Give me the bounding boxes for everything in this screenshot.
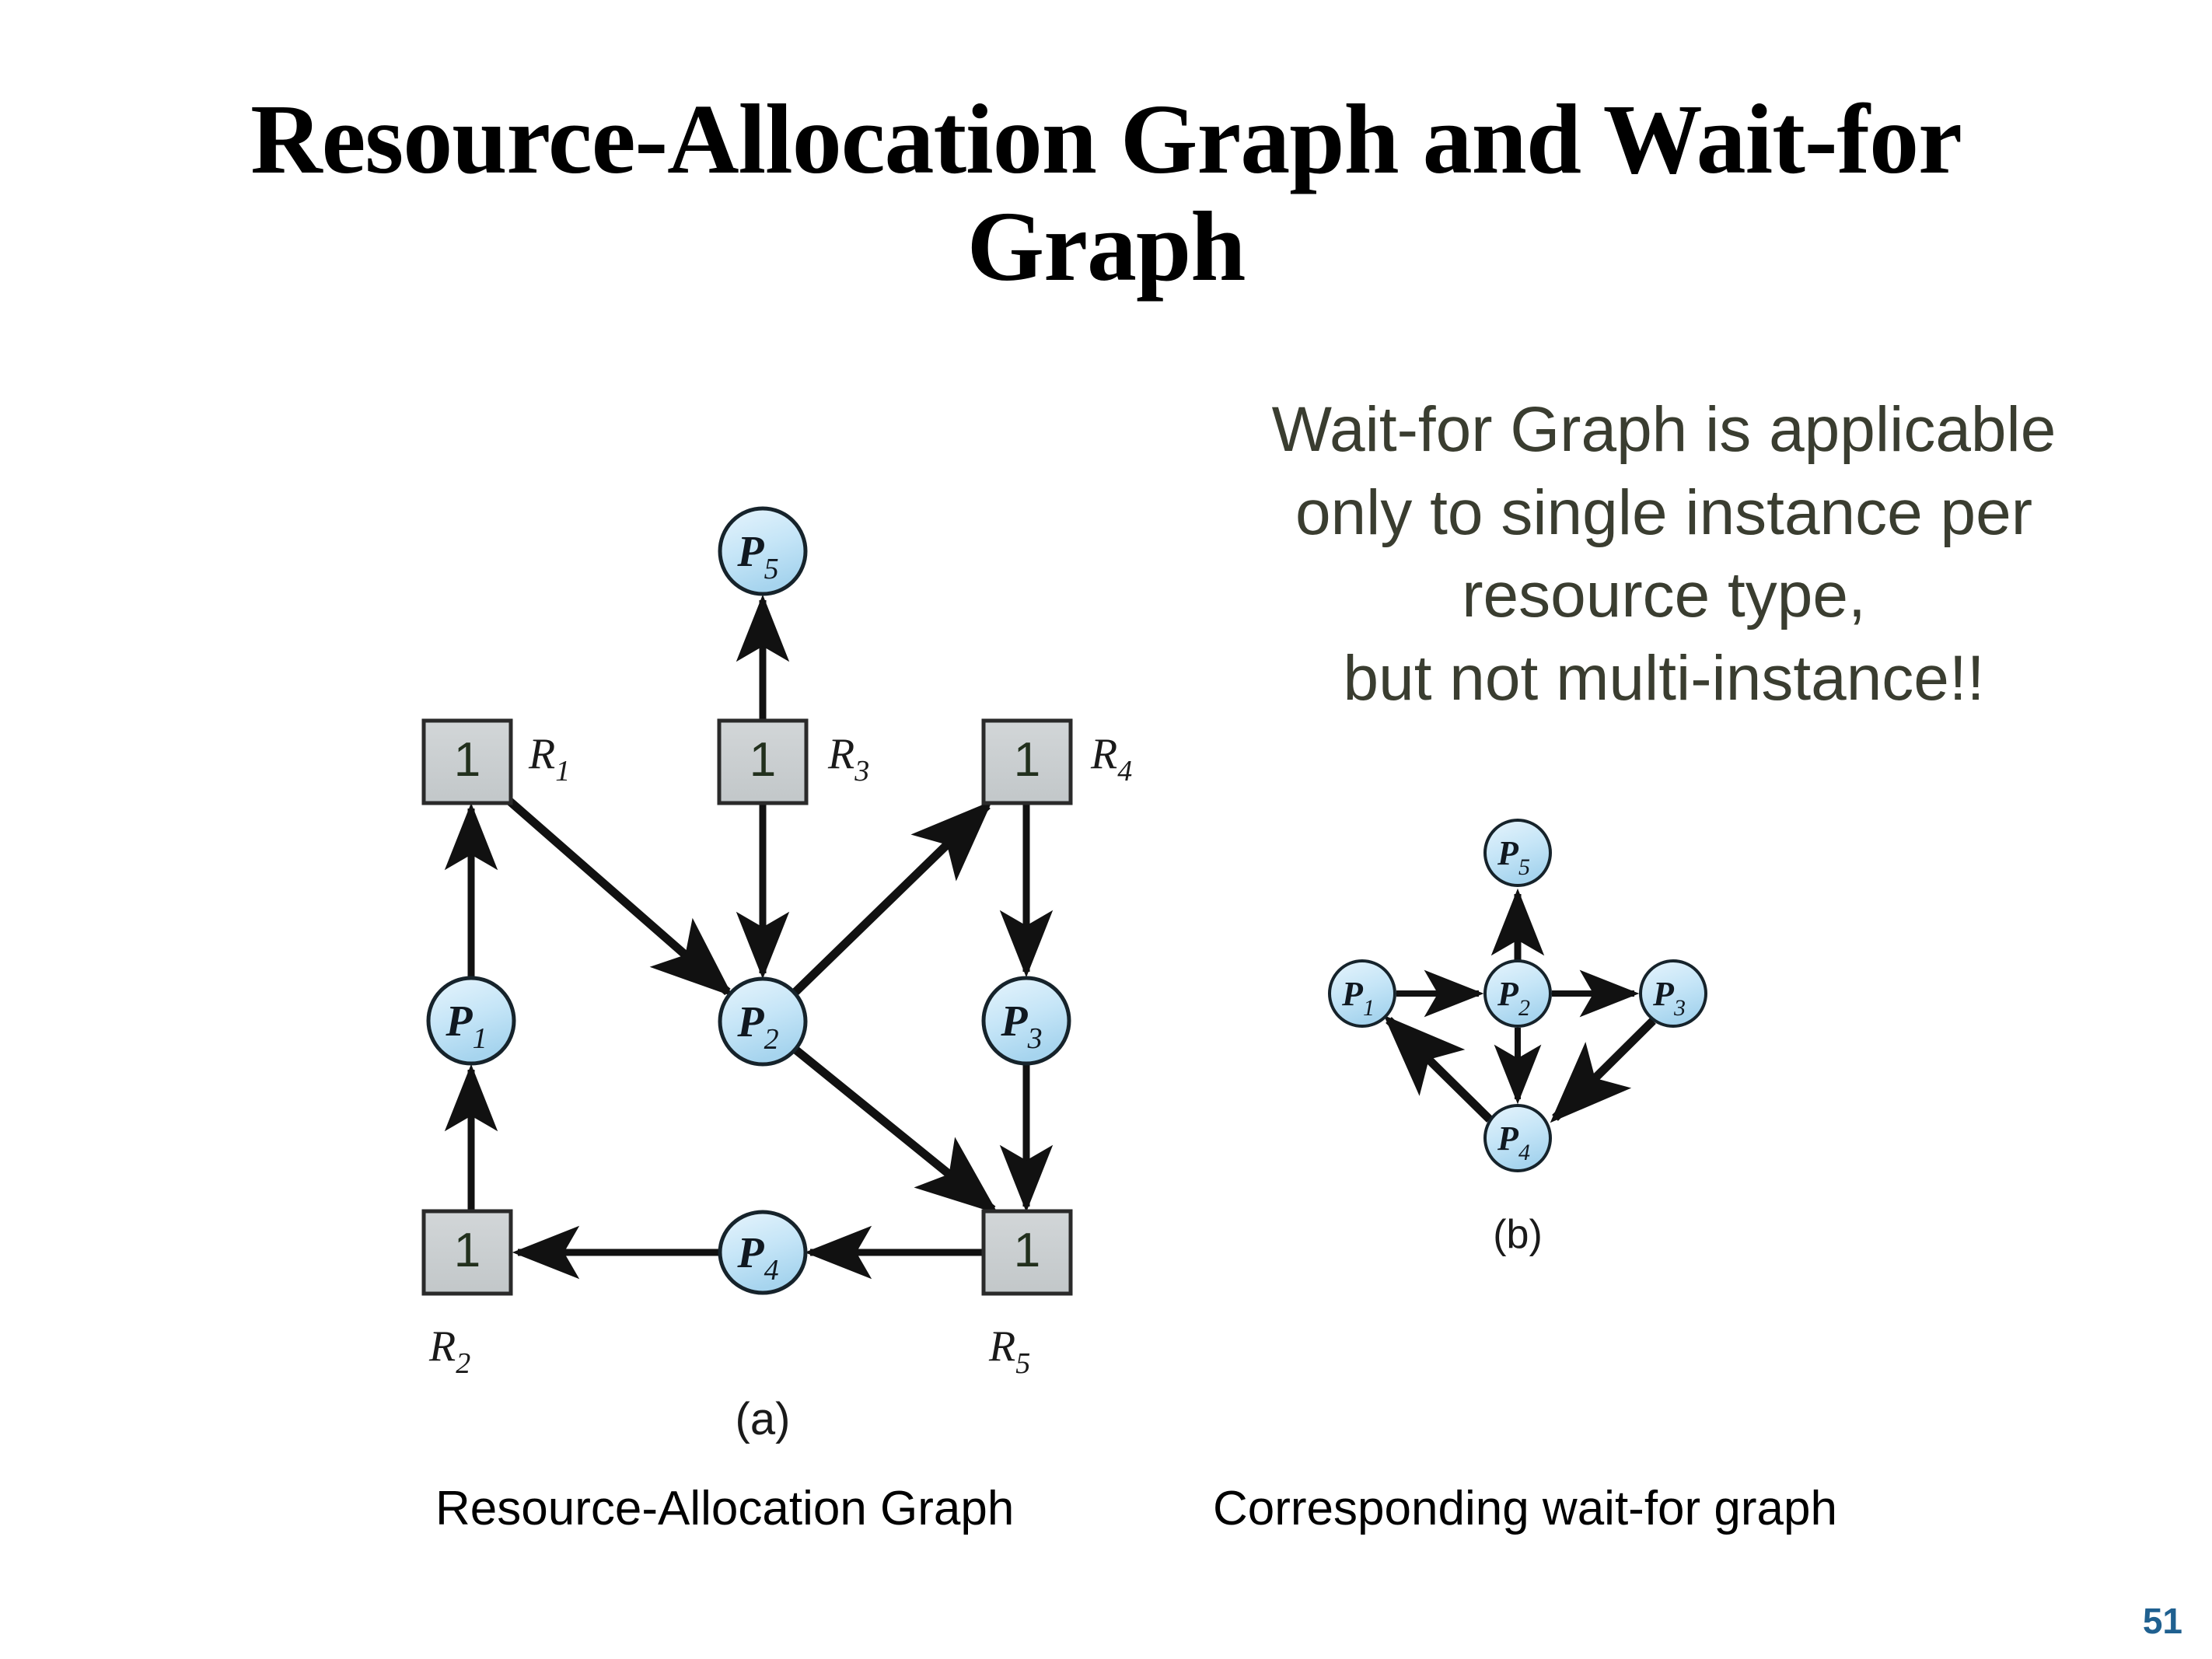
- wait-for-graph-figure: P5 P1 P2 P3 P4 (b): [1275, 793, 1913, 1462]
- resource-label-r1: R1: [528, 730, 570, 788]
- process-node-b-p4[interactable]: P4: [1485, 1105, 1550, 1171]
- page-number: 51: [2143, 1600, 2182, 1642]
- figure-sublabel-b: (b): [1493, 1212, 1543, 1257]
- resource-label-r2: R2: [428, 1322, 470, 1380]
- note-line-3: resource type,: [1158, 554, 2169, 637]
- process-node-group-b: P5 P1 P2 P3 P4: [1330, 820, 1706, 1171]
- caption-resource-allocation-graph: Resource-Allocation Graph: [435, 1481, 1014, 1536]
- note-line-1: Wait-for Graph is applicable: [1158, 389, 2169, 472]
- process-node-group-a: P5 P1 P2 P3 P4: [428, 508, 1069, 1293]
- wait-for-note: Wait-for Graph is applicable only to sin…: [1158, 389, 2169, 720]
- figure-sublabel-a: (a): [736, 1394, 791, 1444]
- process-node-b-p5[interactable]: P5: [1485, 820, 1550, 885]
- edge-r1-p2: [510, 802, 728, 992]
- resource-node-r5[interactable]: 1 R5: [984, 1211, 1071, 1380]
- page-title: Resource-Allocation Graph and Wait-for G…: [0, 86, 2212, 300]
- process-node-b-p1[interactable]: P1: [1330, 961, 1395, 1026]
- process-node-b-p3[interactable]: P3: [1641, 961, 1706, 1026]
- resource-instance-count-r3: 1: [750, 733, 776, 787]
- resource-instance-count-r2: 1: [454, 1224, 480, 1277]
- note-line-2: only to single instance per: [1158, 472, 2169, 555]
- note-line-4: but not multi-instance!!: [1158, 637, 2169, 721]
- process-node-p4[interactable]: P4: [720, 1212, 805, 1293]
- resource-node-r1[interactable]: 1 R1: [424, 721, 570, 803]
- process-node-p2[interactable]: P2: [720, 979, 805, 1064]
- resource-instance-count-r4: 1: [1014, 733, 1040, 787]
- edge-p4-p1: [1389, 1020, 1490, 1119]
- resource-node-r3[interactable]: 1 R3: [719, 721, 869, 803]
- caption-wait-for-graph: Corresponding wait-for graph: [1213, 1481, 1837, 1536]
- resource-instance-count-r5: 1: [1014, 1224, 1040, 1277]
- process-node-b-p2[interactable]: P2: [1485, 961, 1550, 1026]
- edge-p2-r5: [795, 1050, 993, 1210]
- edge-p3-p4: [1555, 1021, 1653, 1118]
- process-node-p1[interactable]: P1: [428, 978, 514, 1064]
- resource-instance-count-r1: 1: [454, 733, 480, 787]
- wait-for-graph-svg: P5 P1 P2 P3 P4 (b): [1275, 793, 1913, 1462]
- resource-label-r3: R3: [827, 730, 869, 788]
- resource-node-r4[interactable]: 1 R4: [984, 721, 1132, 803]
- resource-node-r2[interactable]: 1 R2: [424, 1211, 511, 1380]
- resource-label-r4: R4: [1090, 730, 1132, 788]
- resource-allocation-graph-svg: 1 R1 1 R3 1 R4 1 R2 1 R5: [404, 482, 1166, 1462]
- process-node-p5[interactable]: P5: [720, 508, 805, 594]
- edge-p2-r4: [794, 805, 987, 994]
- resource-allocation-graph-figure: 1 R1 1 R3 1 R4 1 R2 1 R5: [404, 482, 1166, 1462]
- resource-label-r5: R5: [988, 1322, 1030, 1380]
- process-node-p3[interactable]: P3: [984, 978, 1069, 1064]
- edge-group-a: [471, 600, 1026, 1252]
